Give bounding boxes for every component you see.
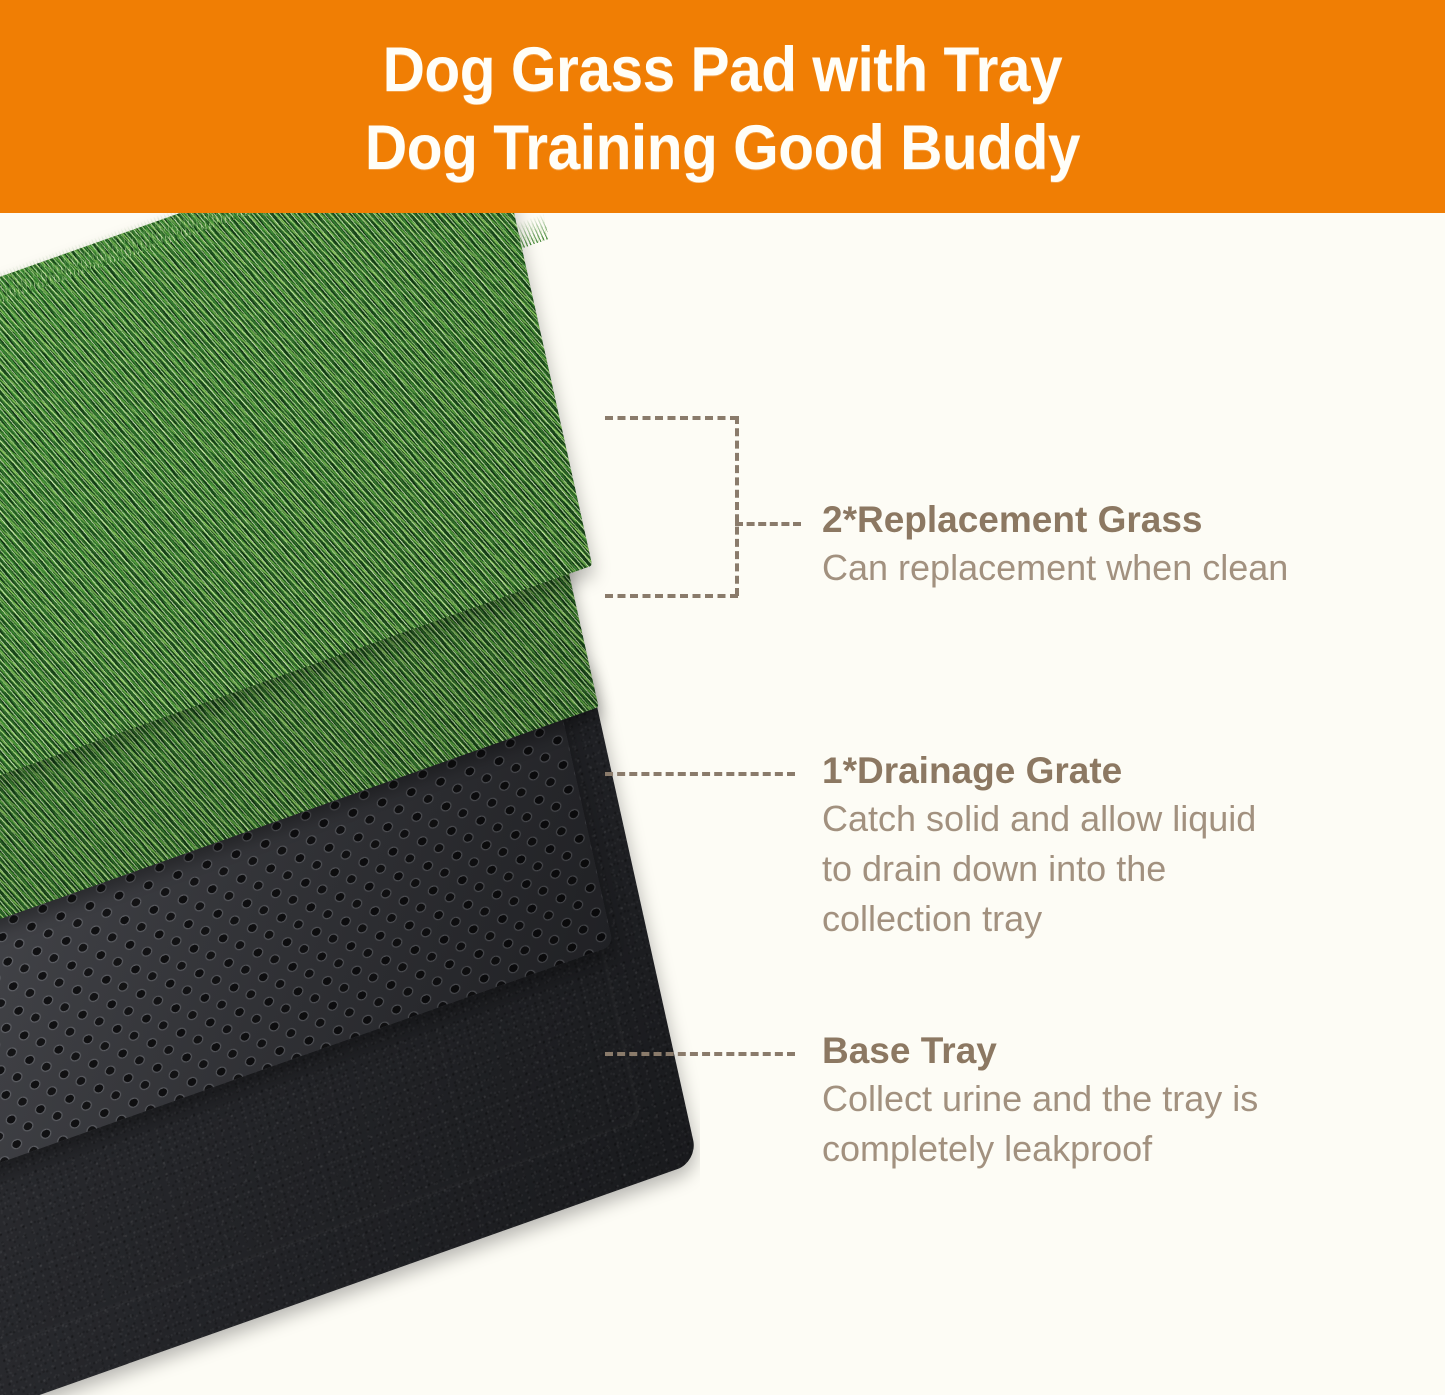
leader-bracket-vertical: [735, 416, 739, 596]
leader-line-drainage-grate: [605, 772, 805, 782]
callout-replacement-grass: 2*Replacement Grass Can replacement when…: [822, 497, 1288, 593]
callout-body-replacement-grass: Can replacement when clean: [822, 543, 1288, 593]
header-banner: Dog Grass Pad with Tray Dog Training Goo…: [0, 0, 1445, 213]
leader-bracket-top: [605, 416, 738, 420]
callout-body-drainage-grate: Catch solid and allow liquid to drain do…: [822, 794, 1256, 944]
callout-title-drainage-grate: 1*Drainage Grate: [822, 748, 1256, 794]
callout-body-line: to drain down into the: [822, 844, 1256, 894]
callout-title-replacement-grass: 2*Replacement Grass: [822, 497, 1288, 543]
leader-dashes: [605, 772, 795, 776]
leader-bracket-bottom: [605, 594, 738, 598]
product-infographic: Dog Grass Pad with Tray Dog Training Goo…: [0, 0, 1445, 1395]
callout-title-base-tray: Base Tray: [822, 1028, 1258, 1074]
leader-bracket-stub: [735, 522, 801, 526]
callout-body-line: completely leakproof: [822, 1124, 1258, 1174]
callout-drainage-grate: 1*Drainage Grate Catch solid and allow l…: [822, 748, 1256, 944]
callout-body-line: Catch solid and allow liquid: [822, 794, 1256, 844]
callout-body-line: Can replacement when clean: [822, 543, 1288, 593]
callout-body-base-tray: Collect urine and the tray is completely…: [822, 1074, 1258, 1174]
leader-bracket-replacement-grass: [605, 412, 805, 607]
leader-line-base-tray: [605, 1052, 805, 1062]
callout-body-line: Collect urine and the tray is: [822, 1074, 1258, 1124]
product-image: [0, 213, 700, 1395]
callout-body-line: collection tray: [822, 894, 1256, 944]
header-title-line-1: Dog Grass Pad with Tray: [383, 31, 1063, 109]
header-title-line-2: Dog Training Good Buddy: [365, 109, 1080, 187]
leader-dashes: [605, 1052, 795, 1056]
callout-base-tray: Base Tray Collect urine and the tray is …: [822, 1028, 1258, 1174]
